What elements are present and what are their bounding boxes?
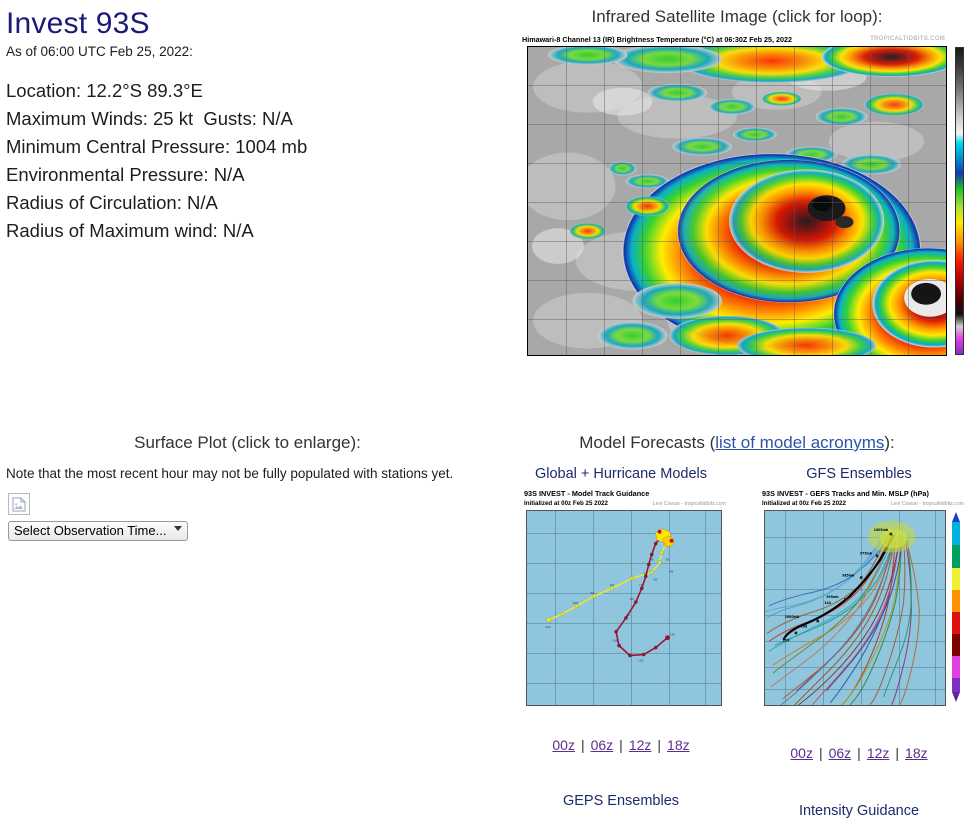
model-forecasts-heading-suffix: ):	[884, 433, 894, 452]
svg-text:48: 48	[650, 557, 654, 561]
stat-minimum-central-pressure: Minimum Central Pressure: 1004 mb	[6, 133, 495, 161]
satellite-heading[interactable]: Infrared Satellite Image (click for loop…	[495, 6, 979, 28]
time-sep-g2: |	[857, 745, 861, 761]
model-track-credit: Levi Cowan - tropicaltidbits.com	[653, 501, 726, 507]
satellite-plot-area: 9°S 10°S 11°S 12°S 13°S 14°S 15°S 16°S 8…	[527, 46, 947, 356]
time-link-12z[interactable]: 12z	[629, 737, 652, 753]
svg-text:168: 168	[801, 625, 808, 629]
time-link-gfs-06z[interactable]: 06z	[829, 745, 852, 761]
storm-stats-list: Location: 12.2°S 89.3°E Maximum Winds: 2…	[6, 77, 495, 245]
time-sep-2: |	[619, 737, 623, 753]
infrared-satellite-image[interactable]: Himawari-8 Channel 13 (IR) Brightness Te…	[505, 33, 973, 375]
time-sep-g1: |	[819, 745, 823, 761]
svg-text:1005mb: 1005mb	[874, 528, 889, 532]
svg-text:120: 120	[545, 625, 551, 629]
stat-location: Location: 12.2°S 89.3°E	[6, 77, 495, 105]
svg-text:60: 60	[644, 571, 648, 575]
chevron-down-icon	[174, 526, 182, 531]
stat-radius-of-circulation: Radius of Circulation: N/A	[6, 189, 495, 217]
gefs-subtitle: Initialized at 00z Feb 25 2022	[762, 500, 846, 507]
panel-title-global-hurricane: Global + Hurricane Models	[503, 466, 739, 482]
page-title: Invest 93S	[6, 6, 495, 42]
model-forecasts-heading-prefix: Model Forecasts (	[579, 433, 715, 452]
time-sep-1: |	[581, 737, 585, 753]
time-link-gfs-18z[interactable]: 18z	[905, 745, 928, 761]
svg-text:120: 120	[670, 633, 676, 637]
model-acronyms-link[interactable]: list of model acronyms	[715, 433, 884, 452]
gefs-mslp-colorbar	[952, 512, 960, 702]
right-column: Infrared Satellite Image (click for loop…	[495, 0, 979, 820]
svg-text:48: 48	[670, 569, 674, 573]
svg-text:72: 72	[639, 583, 643, 587]
svg-text:36: 36	[666, 557, 670, 561]
svg-text:1000mb: 1000mb	[785, 615, 800, 619]
stat-environmental-pressure: Environmental Pressure: N/A	[6, 161, 495, 189]
svg-text:60: 60	[654, 577, 658, 581]
time-sep-g3: |	[895, 745, 899, 761]
satellite-figure-title: Himawari-8 Channel 13 (IR) Brightness Te…	[522, 35, 792, 44]
panel-title-gfs-ensembles: GFS Ensembles	[741, 466, 977, 482]
svg-text:216: 216	[783, 639, 790, 643]
svg-text:108: 108	[573, 601, 579, 605]
model-track-lines: 4860 7284 96108 120120 8496 108120 3648 …	[527, 511, 721, 705]
svg-text:96: 96	[626, 613, 630, 617]
time-link-gfs-12z[interactable]: 12z	[867, 745, 890, 761]
time-link-06z[interactable]: 06z	[591, 737, 614, 753]
gefs-spaghetti-tracks: 1005mb 975mb 985mb 995mb 1000mb 144 168 …	[765, 511, 945, 705]
surface-plot-heading: Surface Plot (click to enlarge):	[0, 433, 495, 453]
panel-title-geps-ensembles: GEPS Ensembles	[503, 793, 739, 809]
time-sep-3: |	[657, 737, 661, 753]
gefs-credit: Levi Cowan - tropicaltidbits.com	[891, 501, 964, 507]
model-track-title: 93S INVEST - Model Track Guidance	[524, 489, 649, 498]
surface-plot-note: Note that the most recent hour may not b…	[6, 466, 486, 481]
gefs-title: 93S INVEST - GEFS Tracks and Min. MSLP (…	[762, 489, 929, 498]
model-forecasts-heading: Model Forecasts (list of model acronyms)…	[495, 433, 979, 453]
gefs-ensembles-chart[interactable]: 93S INVEST - GEFS Tracks and Min. MSLP (…	[756, 486, 968, 718]
as-of-timestamp: As of 06:00 UTC Feb 25, 2022:	[6, 44, 495, 59]
svg-text:84: 84	[610, 583, 614, 587]
svg-text:975mb: 975mb	[860, 552, 873, 556]
svg-text:995mb: 995mb	[826, 595, 839, 599]
stat-maximum-winds: Maximum Winds: 25 kt Gusts: N/A	[6, 105, 495, 133]
time-links-global-hurricane: 00z|06z|12z|18z	[503, 737, 739, 753]
svg-text:96: 96	[590, 591, 594, 595]
model-track-subtitle: Initialized at 00z Feb 25 2022	[524, 500, 608, 507]
stat-radius-of-maximum-wind: Radius of Maximum wind: N/A	[6, 217, 495, 245]
svg-text:84: 84	[630, 597, 634, 601]
model-track-plot-area: 4860 7284 96108 120120 8496 108120 3648 …	[526, 510, 722, 706]
time-link-gfs-00z[interactable]: 00z	[790, 745, 813, 761]
tropical-storm-page: Invest 93S As of 06:00 UTC Feb 25, 2022:…	[0, 0, 979, 820]
satellite-colorbar	[955, 47, 964, 355]
time-link-18z[interactable]: 18z	[667, 737, 690, 753]
svg-text:120: 120	[638, 658, 644, 662]
svg-text:144: 144	[824, 601, 831, 605]
svg-text:985mb: 985mb	[842, 573, 855, 577]
gefs-plot-area: 1005mb 975mb 985mb 995mb 1000mb 144 168 …	[764, 510, 946, 706]
time-links-gfs-ensembles: 00z|06z|12z|18z	[741, 745, 977, 761]
panel-title-intensity-guidance: Intensity Guidance	[741, 803, 977, 819]
satellite-credit-watermark: TROPICALTIDBITS.COM	[870, 36, 945, 42]
left-column: Invest 93S As of 06:00 UTC Feb 25, 2022:…	[0, 0, 495, 820]
broken-image-icon[interactable]	[8, 493, 30, 515]
svg-text:108: 108	[612, 639, 618, 643]
observation-time-select[interactable]: Select Observation Time...	[8, 521, 188, 541]
model-track-guidance-chart[interactable]: 93S INVEST - Model Track Guidance Initia…	[518, 486, 730, 718]
time-link-00z[interactable]: 00z	[552, 737, 575, 753]
observation-time-select-label: Select Observation Time...	[14, 523, 166, 538]
